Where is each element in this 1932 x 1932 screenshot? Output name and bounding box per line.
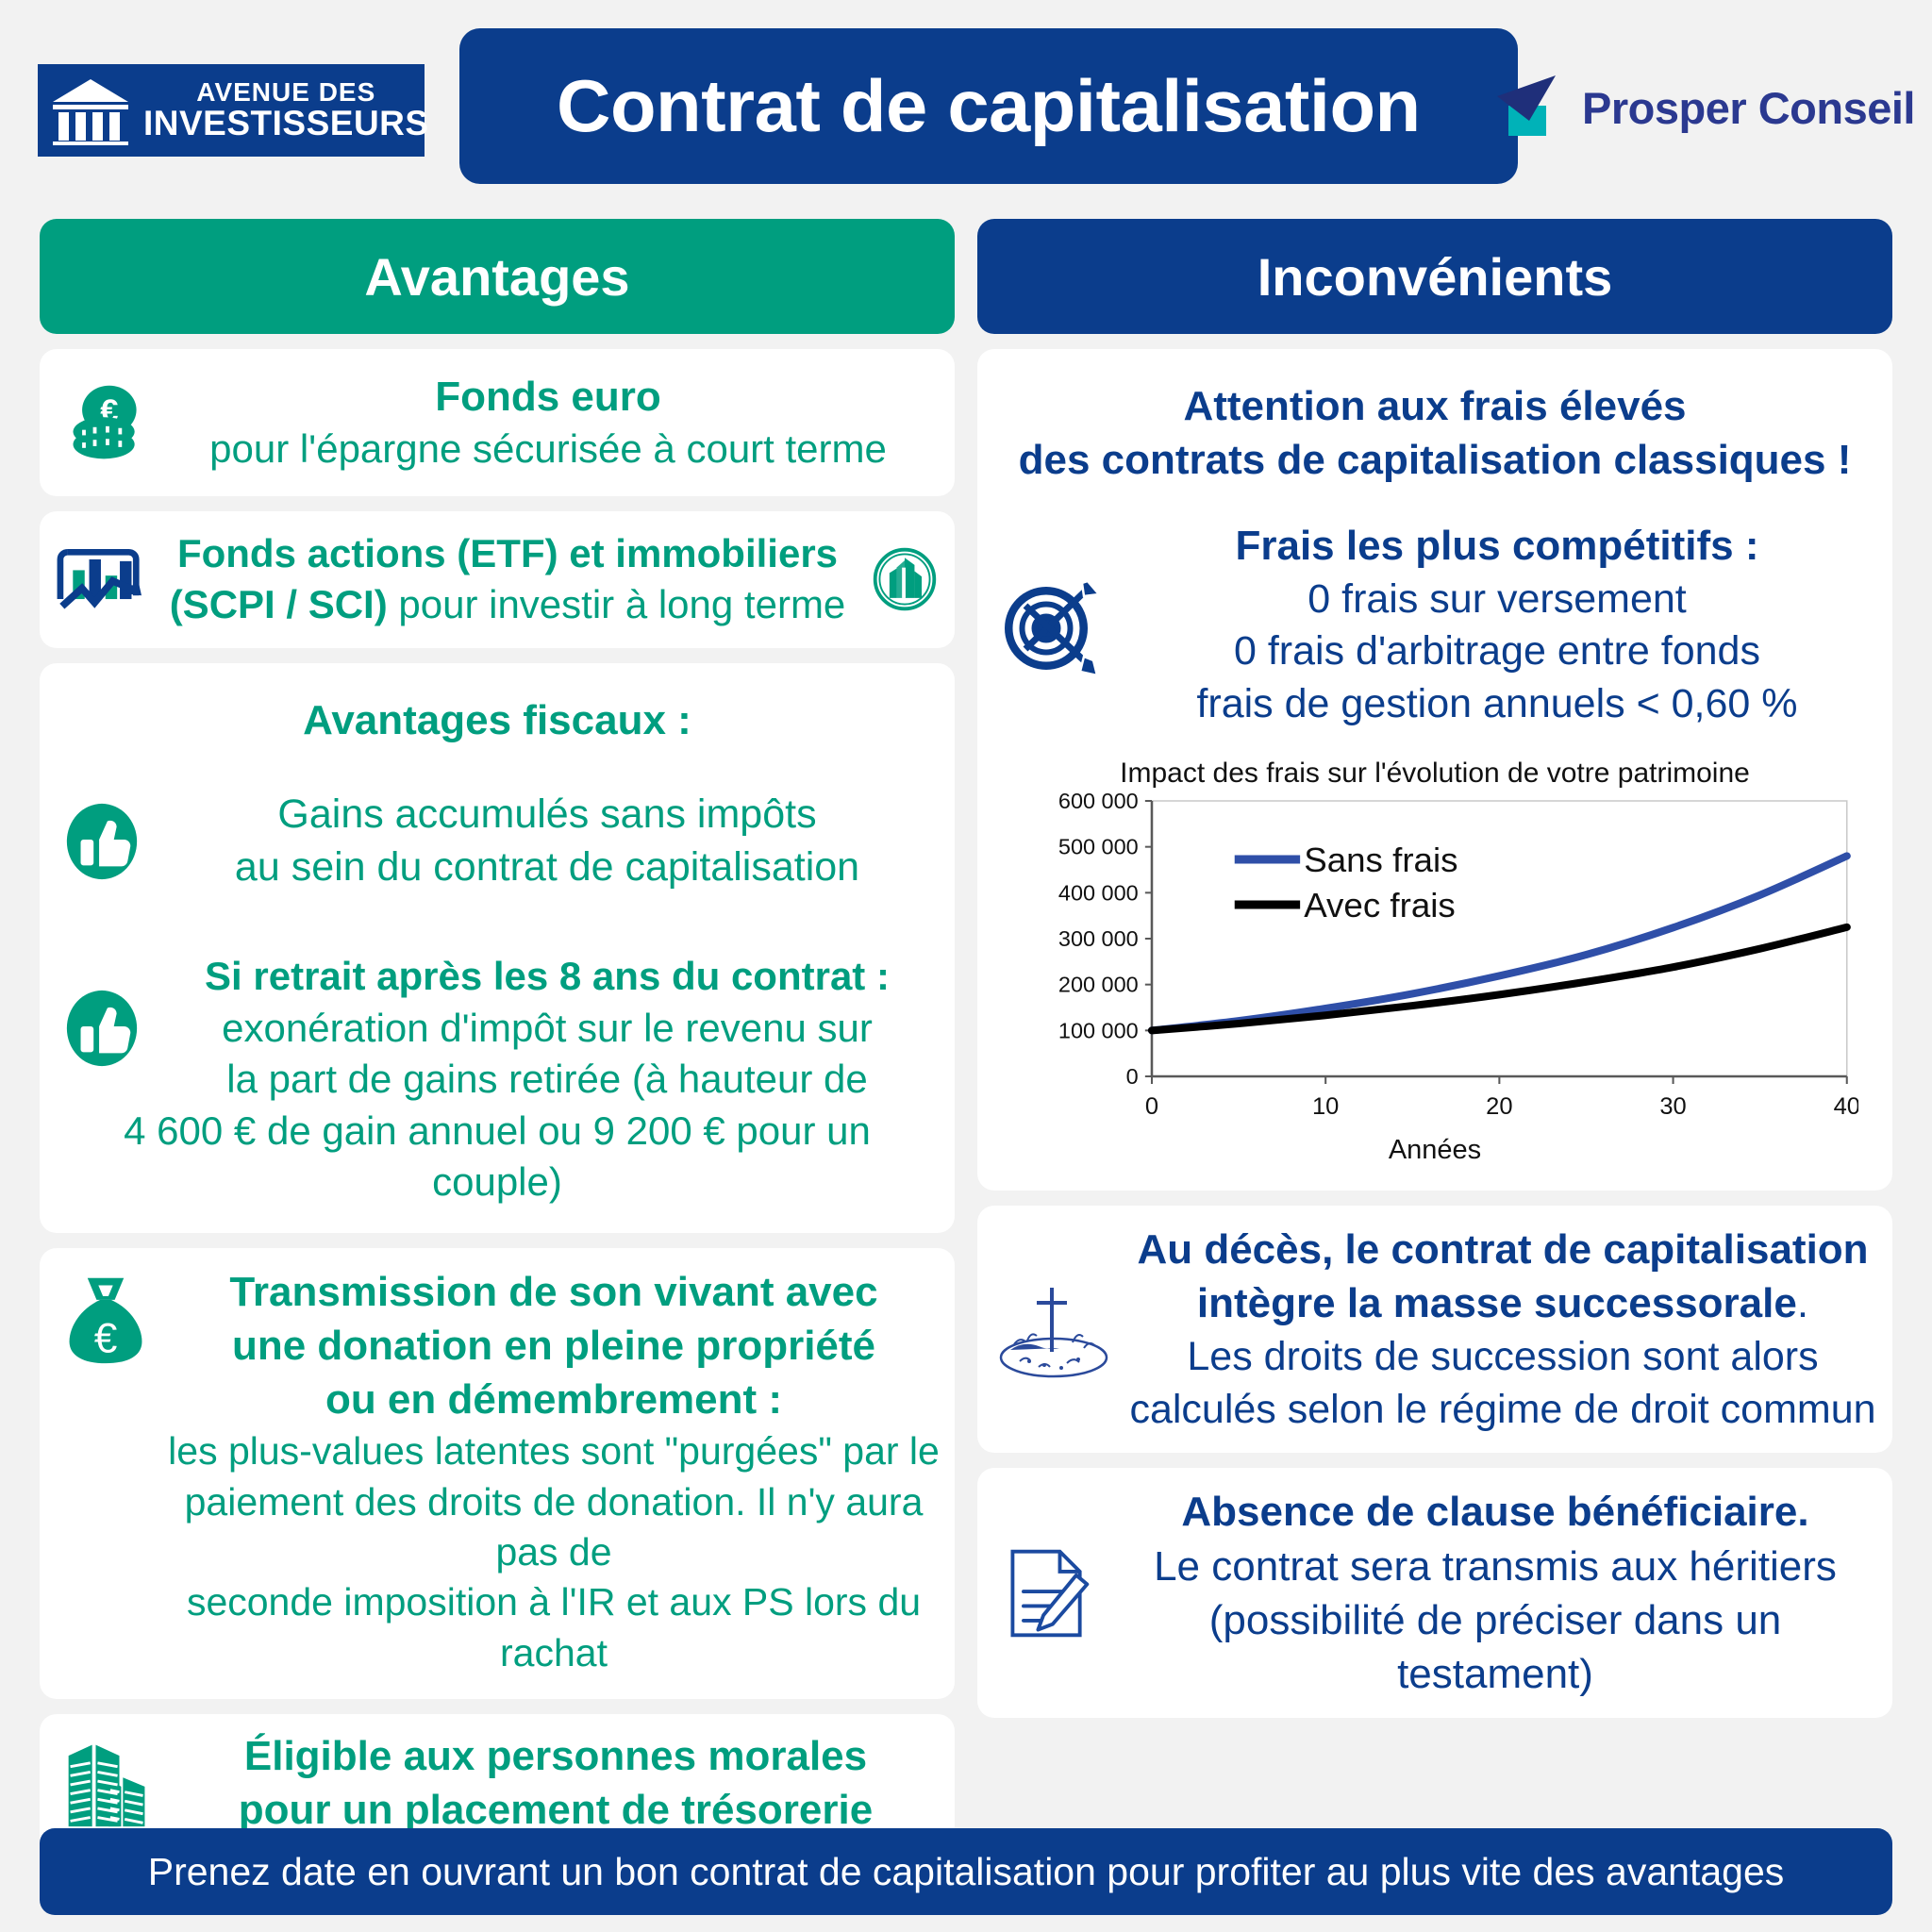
card-line: Attention aux frais élevés (994, 379, 1875, 433)
card-au-deces-body: Au décès, le contrat de capitalisation i… (1128, 1223, 1877, 1436)
card-line: Gains accumulés sans impôts (158, 789, 936, 841)
svg-text:0: 0 (1145, 1093, 1158, 1120)
card-transmission-body: Transmission de son vivant avec une dona… (168, 1265, 940, 1678)
card-line: Fonds euro (162, 370, 934, 424)
footer-text: Prenez date en ouvrant un bon contrat de… (148, 1850, 1785, 1894)
bank-icon (51, 75, 130, 145)
card-line: Les droits de succession sont alors (1128, 1331, 1877, 1384)
buildings-circle-icon (868, 544, 941, 614)
fiscaux-block-1-body: Gains accumulés sans impôts au sein du c… (158, 789, 936, 894)
card-line-bold: (SCPI / SCI) (170, 582, 388, 626)
logo-avenue-des-investisseurs: AVENUE DES INVESTISSEURS (38, 64, 425, 157)
columns: Avantages € (0, 219, 1932, 1852)
grave-cross-icon (992, 1274, 1117, 1384)
card-line: Transmission de son vivant avec (168, 1265, 940, 1319)
svg-text:Avec frais: Avec frais (1304, 887, 1456, 925)
card-line-mixed: intègre la masse successorale. (1128, 1276, 1877, 1330)
card-line: 0 frais sur versement (1119, 574, 1875, 626)
card-line-mixed: (SCPI / SCI) pour investir à long terme (158, 579, 857, 631)
card-line: Si retrait après les 8 ans du contrat : (158, 951, 936, 1003)
infographic-page: AVENUE DES INVESTISSEURS Contrat de capi… (0, 0, 1932, 1932)
card-line: Frais les plus compétitifs : (1119, 519, 1875, 573)
svg-text:600 000: 600 000 (1058, 793, 1139, 813)
card-line: les plus-values latentes sont "purgées" … (168, 1426, 940, 1476)
card-line: au sein du contrat de capitalisation (158, 841, 936, 894)
svg-text:500 000: 500 000 (1058, 835, 1139, 859)
office-buildings-icon (55, 1736, 160, 1830)
svg-text:400 000: 400 000 (1058, 881, 1139, 906)
chart-title: Impact des frais sur l'évolution de votr… (1011, 758, 1858, 790)
thumbs-up-icon (58, 801, 145, 882)
target-arrows-icon (994, 574, 1104, 677)
svg-text:€: € (94, 1316, 118, 1362)
card-line: 0 frais d'arbitrage entre fonds (1119, 625, 1875, 678)
card-avantages-fiscaux-title: Avantages fiscaux : (303, 693, 691, 747)
card-line: une donation en pleine propriété (168, 1319, 940, 1373)
card-line: Au décès, le contrat de capitalisation (1128, 1223, 1877, 1276)
svg-text:0: 0 (1126, 1064, 1139, 1089)
card-line: la part de gains retirée (à hauteur de (158, 1054, 936, 1106)
card-line-bold: intègre la masse successorale (1197, 1280, 1797, 1326)
card-line: seconde imposition à l'IR et aux PS lors… (168, 1577, 940, 1678)
svg-text:40: 40 (1834, 1093, 1858, 1120)
card-personnes-morales-body: Éligible aux personnes morales pour un p… (172, 1729, 940, 1837)
chart-impact-frais: Impact des frais sur l'évolution de votr… (994, 748, 1875, 1179)
euro-coins-icon: € (60, 379, 151, 466)
logo-prosper-text: Prosper Conseil (1582, 82, 1915, 134)
bar-chart-growth-icon (53, 538, 147, 621)
card-fonds-actions: Fonds actions (ETF) et immobiliers (SCPI… (40, 511, 955, 648)
card-frais-warning: Attention aux frais élevés des contrats … (994, 379, 1875, 487)
svg-text:100 000: 100 000 (1058, 1019, 1139, 1043)
fiscaux-block-2-body: Si retrait après les 8 ans du contrat : … (158, 951, 936, 1106)
page-title: Contrat de capitalisation (557, 63, 1421, 149)
svg-text:20: 20 (1486, 1093, 1512, 1120)
card-line: Le contrat sera transmis aux héritiers (1113, 1540, 1877, 1593)
logo-avenue-line2: INVESTISSEURS (143, 106, 429, 142)
card-line: pour l'épargne sécurisée à court terme (162, 424, 934, 475)
logo-prosper-conseil: Prosper Conseil (1495, 74, 1915, 142)
card-transmission: € Transmission de son vivant avec une do… (40, 1248, 955, 1699)
fiscaux-block-2: Si retrait après les 8 ans du contrat : … (58, 951, 936, 1106)
card-fonds-actions-body: Fonds actions (ETF) et immobiliers (SCPI… (158, 528, 857, 631)
svg-text:300 000: 300 000 (1058, 926, 1139, 951)
card-line: 4 600 € de gain annuel ou 9 200 € pour u… (58, 1106, 936, 1208)
card-line: exonération d'impôt sur le revenu sur (158, 1003, 936, 1055)
card-frais-detail: Frais les plus compétitifs : 0 frais sur… (994, 519, 1875, 731)
card-au-deces: Au décès, le contrat de capitalisation i… (977, 1206, 1892, 1453)
card-line: paiement des droits de donation. Il n'y … (168, 1477, 940, 1578)
column-inconvenients: Inconvénients Attention aux frais élevés… (977, 219, 1892, 1852)
svg-text:Sans frais: Sans frais (1304, 841, 1457, 880)
card-avantages-fiscaux: Avantages fiscaux : Gains accumulés sans… (40, 663, 955, 1233)
card-line: ou en démembrement : (168, 1373, 940, 1426)
svg-text:10: 10 (1312, 1093, 1339, 1120)
money-bag-euro-icon: € (55, 1273, 157, 1367)
card-frais-body: Frais les plus compétitifs : 0 frais sur… (1119, 519, 1875, 731)
svg-text:200 000: 200 000 (1058, 973, 1139, 997)
footer-banner: Prenez date en ouvrant un bon contrat de… (40, 1828, 1892, 1915)
column-avantages: Avantages € (40, 219, 955, 1852)
card-line-rest: . (1797, 1280, 1808, 1326)
card-line-rest: pour investir à long terme (388, 582, 846, 626)
thumbs-up-icon (58, 988, 145, 1069)
card-line: Absence de clause bénéficiaire. (1113, 1485, 1877, 1539)
card-line: Fonds actions (ETF) et immobiliers (158, 528, 857, 580)
card-line: calculés selon le régime de droit commun (1128, 1384, 1877, 1437)
fiscaux-block-1: Gains accumulés sans impôts au sein du c… (58, 789, 936, 894)
card-line: Éligible aux personnes morales (172, 1729, 940, 1783)
card-absence-clause: Absence de clause bénéficiaire. Le contr… (977, 1468, 1892, 1718)
prosper-mark-icon (1495, 74, 1569, 142)
card-line: frais de gestion annuels < 0,60 % (1119, 678, 1875, 731)
card-line: (possibilité de préciser dans un testame… (1113, 1593, 1877, 1701)
logo-avenue-line1: AVENUE DES (196, 78, 375, 106)
card-absence-clause-body: Absence de clause bénéficiaire. Le contr… (1113, 1485, 1877, 1701)
chart-plot-area: 0100 000200 000300 000400 000500 000600 … (1011, 793, 1858, 1133)
column-heading-avantages: Avantages (40, 219, 955, 334)
column-heading-inconvenients: Inconvénients (977, 219, 1892, 334)
chart-x-axis-label: Années (1011, 1135, 1858, 1166)
document-pen-icon (992, 1542, 1102, 1644)
svg-text:30: 30 (1659, 1093, 1686, 1120)
card-frais: Attention aux frais élevés des contrats … (977, 349, 1892, 1191)
card-line: des contrats de capitalisation classique… (994, 433, 1875, 487)
header: AVENUE DES INVESTISSEURS Contrat de capi… (0, 0, 1932, 203)
title-plate: Contrat de capitalisation (459, 28, 1518, 184)
card-fonds-euro-body: Fonds euro pour l'épargne sécurisée à co… (162, 370, 934, 475)
card-fonds-euro: € Fonds euro pour l'épargne sécurisée à (40, 349, 955, 496)
